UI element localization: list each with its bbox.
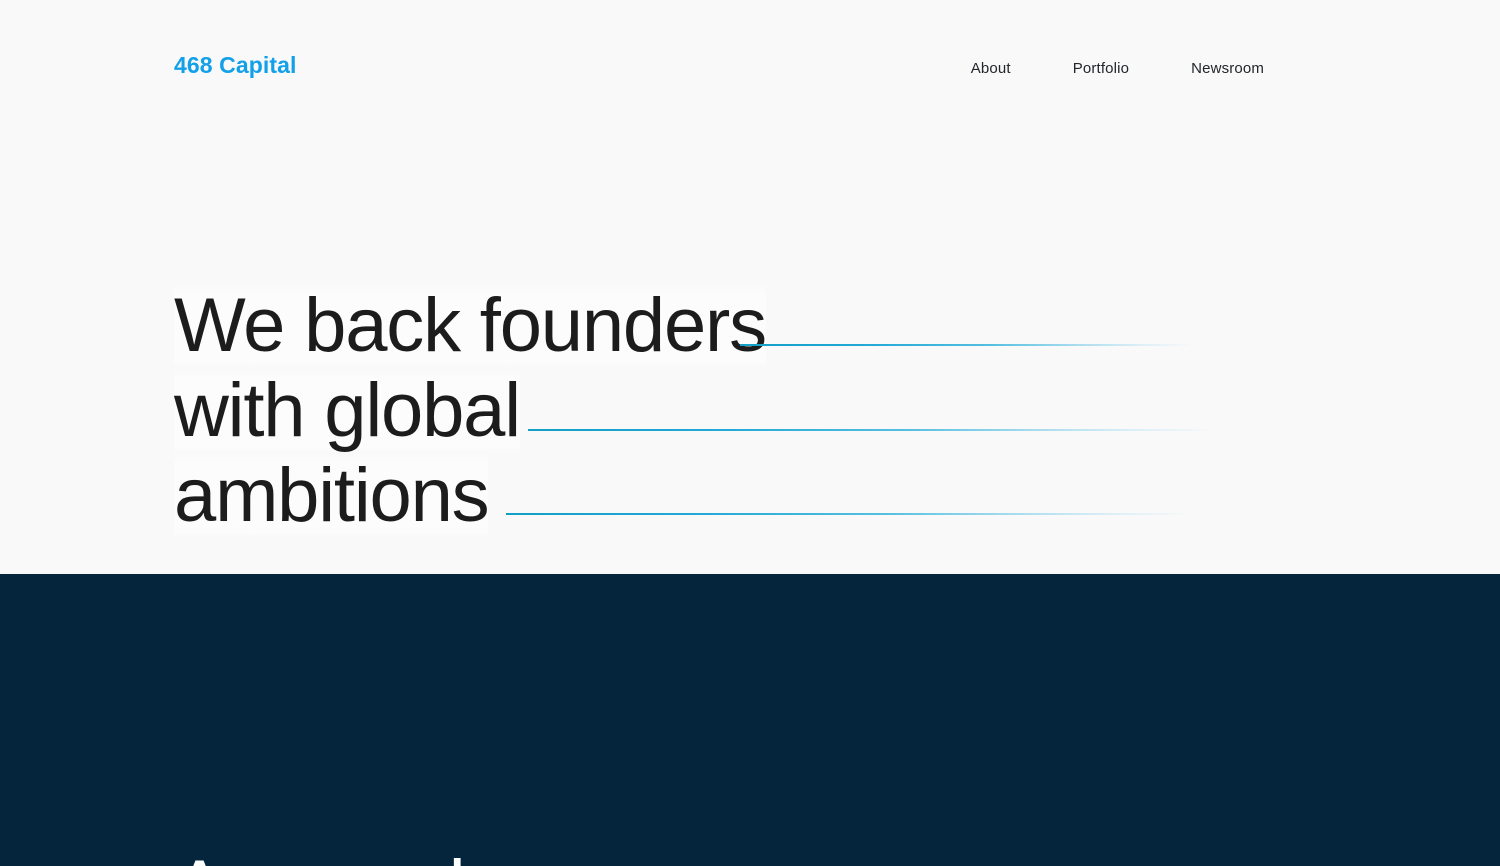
nav-item-newsroom[interactable]: Newsroom bbox=[1191, 57, 1264, 80]
page-root: 468 Capital About Portfolio Newsroom We … bbox=[0, 0, 1500, 866]
hero-headline: We back founders with global ambitions bbox=[174, 283, 1294, 538]
headline-line-2: with global bbox=[174, 368, 1294, 453]
main-navigation: About Portfolio Newsroom bbox=[971, 54, 1264, 80]
nav-item-about[interactable]: About bbox=[971, 57, 1011, 80]
accent-rule-1 bbox=[740, 344, 1194, 346]
brand-logo-468-capital[interactable]: 468 Capital bbox=[174, 54, 297, 77]
headline-line-1: We back founders bbox=[174, 283, 1294, 368]
headline-line-2-text: with global bbox=[174, 368, 520, 453]
approach-section bbox=[0, 574, 1500, 866]
headline-line-1-text: We back founders bbox=[174, 283, 766, 368]
accent-rule-3 bbox=[506, 513, 1193, 515]
headline-line-3: ambitions bbox=[174, 453, 1294, 538]
accent-rule-2 bbox=[528, 429, 1216, 431]
headline-line-3-text: ambitions bbox=[174, 453, 488, 538]
site-header: 468 Capital About Portfolio Newsroom bbox=[0, 0, 1500, 140]
approach-section-title: Approach bbox=[174, 845, 490, 866]
nav-item-portfolio[interactable]: Portfolio bbox=[1073, 57, 1129, 80]
hero-section: 468 Capital About Portfolio Newsroom We … bbox=[0, 0, 1500, 574]
